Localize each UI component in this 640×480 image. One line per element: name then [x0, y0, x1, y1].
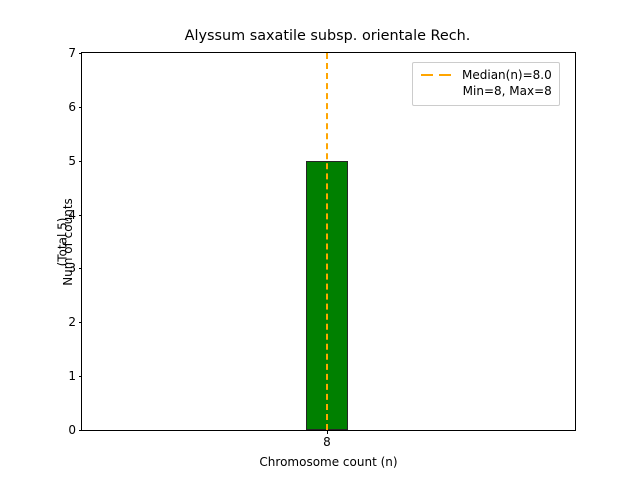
y-axis-sublabel: (Total 5)	[56, 217, 68, 266]
median-line	[326, 53, 328, 430]
ytick-label-2: 2	[68, 316, 76, 328]
legend-range-label: Min=8, Max=8	[463, 84, 552, 98]
chart-title: Alyssum saxatile subsp. orientale Rech.	[81, 28, 574, 45]
chart-legend[interactable]: Median(n)=8.0 Min=8, Max=8	[412, 62, 560, 106]
x-axis-label: Chromosome count (n)	[82, 455, 575, 469]
ytick-mark-5	[79, 161, 83, 162]
ytick-mark-0	[79, 430, 83, 431]
xtick-label-8: 8	[323, 436, 331, 448]
ytick-mark-3	[79, 268, 83, 269]
legend-text-block: Median(n)=8.0 Min=8, Max=8	[462, 68, 552, 99]
dashed-line-icon	[420, 68, 454, 82]
chart-figure: Alyssum saxatile subsp. orientale Rech. …	[0, 0, 640, 480]
ytick-label-6: 6	[68, 101, 76, 113]
xtick-mark-8	[327, 430, 328, 434]
ytick-mark-7	[79, 53, 83, 54]
legend-median-label: Median(n)=8.0	[462, 68, 552, 82]
ytick-mark-4	[79, 215, 83, 216]
ytick-label-1: 1	[68, 370, 76, 382]
legend-entry-median: Median(n)=8.0 Min=8, Max=8	[420, 68, 552, 99]
ytick-label-5: 5	[68, 155, 76, 167]
ytick-label-0: 0	[68, 424, 76, 436]
ytick-mark-2	[79, 322, 83, 323]
ytick-mark-1	[79, 376, 83, 377]
ytick-label-7: 7	[68, 47, 76, 59]
ytick-mark-6	[79, 107, 83, 108]
plot-area: 7 6 5 4 3 2 1 0 Num of counts (Total 5) …	[81, 52, 576, 431]
